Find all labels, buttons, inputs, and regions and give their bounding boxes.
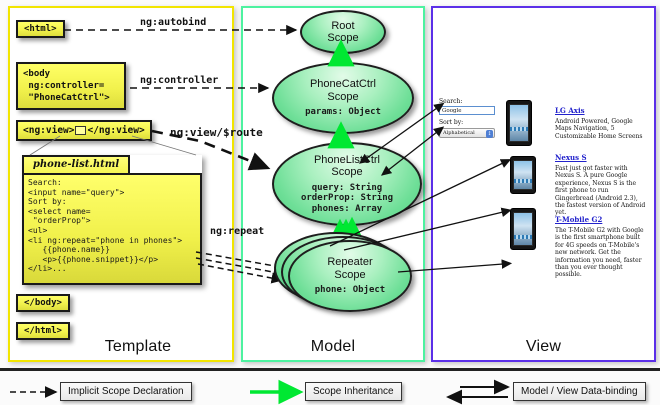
scope-phonecatctrl-label: PhoneCatCtrl Scope: [310, 78, 376, 103]
column-template-label: Template: [10, 338, 232, 356]
legend: Implicit Scope Declaration Scope Inherit…: [0, 368, 660, 405]
scope-root-label: Root Scope: [327, 20, 358, 45]
phone-image-lg-axis: [506, 100, 532, 146]
scope-repeater-label: Repeater Scope: [327, 256, 372, 281]
ngview-open-text: <ng:view>: [23, 125, 74, 136]
view-rendered-app: Search: Google Sort by: Alphabetical ↕ L…: [437, 98, 649, 298]
scope-phonelistctrl: PhoneListCtrl Scope query: String orderP…: [272, 142, 422, 226]
ngview-close-text: </ng:view>: [87, 125, 144, 136]
phone-snippet-2: The T-Mobile G2 with Google is the first…: [555, 227, 647, 279]
sort-select[interactable]: Alphabetical ↕: [439, 128, 495, 138]
partial-file-tab: phone-list.html: [22, 155, 130, 175]
scope-repeater-props: phone: Object: [315, 285, 385, 296]
phone-screen: [509, 104, 529, 142]
code-tag-html-open: <html>: [16, 20, 65, 38]
phone-screen: [513, 160, 533, 190]
phone-link-0[interactable]: LG Axis: [555, 106, 585, 115]
partial-filename: phone-list.html: [24, 157, 128, 173]
column-view-label: View: [433, 338, 654, 356]
partial-file-phone-list: phone-list.html Search: <input name="que…: [22, 155, 202, 285]
scope-phonecatctrl: PhoneCatCtrl Scope params: Object: [272, 62, 414, 134]
phone-link-1[interactable]: Nexus S: [555, 153, 587, 162]
diagram-canvas: Template Model View <html> <body ng:cont…: [0, 0, 660, 405]
column-model-label: Model: [243, 338, 423, 356]
sort-label: Sort by:: [439, 119, 463, 127]
legend-item-implicit: Implicit Scope Declaration: [60, 382, 192, 401]
scope-phonelistctrl-props: query: String orderProp: String phones: …: [301, 183, 393, 215]
edge-label-ng-view-route: ng:view/$route: [170, 126, 263, 139]
select-arrow-icon: ↕: [486, 130, 493, 138]
phone-screen: [513, 212, 533, 246]
search-label: Search:: [439, 98, 462, 106]
edge-label-ng-controller: ng:controller: [140, 75, 218, 86]
scope-root: Root Scope: [300, 10, 386, 54]
edge-label-ng-repeat: ng:repeat: [210, 226, 264, 237]
code-tag-ngview: <ng:view></ng:view>: [16, 120, 152, 141]
ngview-slot-icon: [75, 126, 86, 135]
scope-phonecatctrl-props: params: Object: [305, 107, 381, 118]
phone-snippet-1: Fast just got faster with Nexus S. A pur…: [555, 165, 647, 217]
search-input[interactable]: Google: [439, 106, 495, 115]
partial-code: Search: <input name="query"> Sort by: <s…: [28, 178, 196, 274]
scope-phonelistctrl-label: PhoneListCtrl Scope: [314, 154, 380, 179]
edge-label-ng-autobind: ng:autobind: [140, 17, 206, 28]
partial-file-body: Search: <input name="query"> Sort by: <s…: [22, 173, 202, 285]
phone-snippet-0: Android Powered, Google Maps Navigation,…: [555, 118, 647, 140]
code-tag-body-close: </body>: [16, 294, 70, 312]
phone-link-2[interactable]: T-Mobile G2: [555, 215, 602, 224]
scope-repeater: Repeater Scope phone: Object: [288, 240, 412, 312]
code-tag-body-open: <body ng:controller= "PhoneCatCtrl">: [16, 62, 126, 110]
legend-item-inheritance: Scope Inheritance: [305, 382, 402, 401]
sort-select-value: Alphabetical: [443, 130, 475, 136]
phone-image-t-mobile-g2: [510, 208, 536, 250]
code-tag-html-close: </html>: [16, 322, 70, 340]
phone-image-nexus-s: [510, 156, 536, 194]
legend-item-databinding: Model / View Data-binding: [513, 382, 646, 401]
